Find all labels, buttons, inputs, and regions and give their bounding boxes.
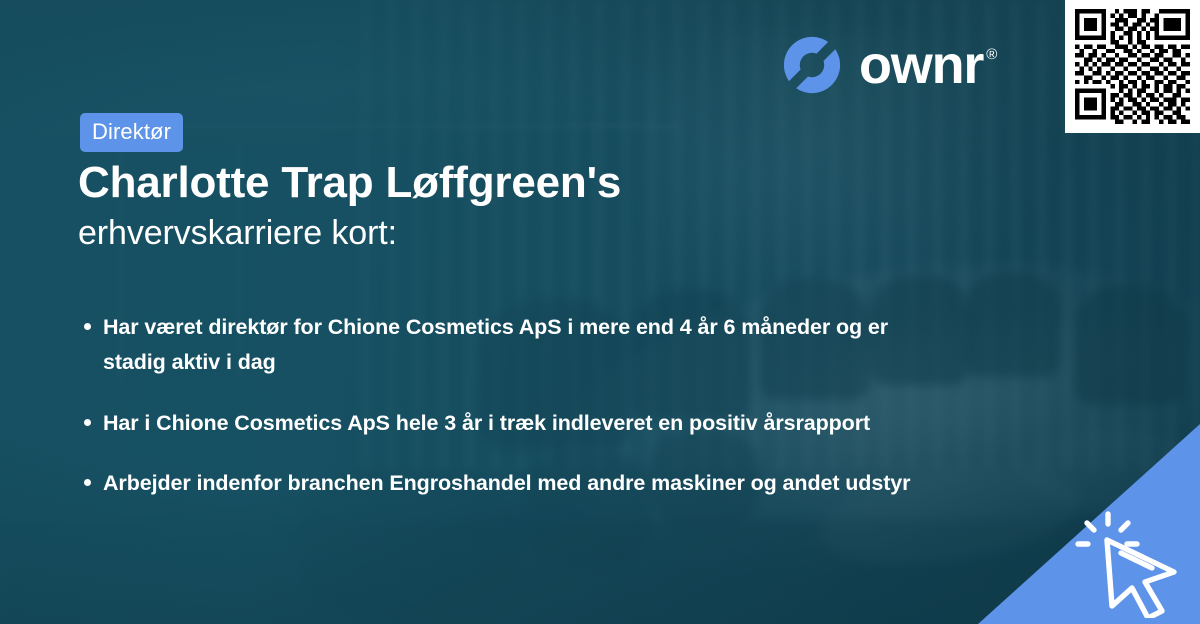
headline-line-2: erhvervskarriere kort: <box>78 213 898 254</box>
list-item-text: Har været direktør for Chione Cosmetics … <box>103 310 940 380</box>
career-card: Direktør Charlotte Trap Løffgreen's erhv… <box>0 0 1200 624</box>
role-badge: Direktør <box>80 113 183 152</box>
ownr-wordmark: ownr <box>859 38 983 92</box>
click-cursor-icon <box>1074 510 1186 618</box>
bullet-dot-icon <box>84 479 91 486</box>
ownr-logo: ownr ® <box>781 34 997 96</box>
list-item-text: Arbejder indenfor branchen Engroshandel … <box>103 466 910 501</box>
list-item-text: Har i Chione Cosmetics ApS hele 3 år i t… <box>103 406 870 441</box>
card-content: Direktør Charlotte Trap Løffgreen's erhv… <box>0 0 1200 624</box>
page-title: Charlotte Trap Løffgreen's erhvervskarri… <box>78 158 898 254</box>
qr-code-icon[interactable] <box>1075 9 1190 124</box>
headline-line-1: Charlotte Trap Løffgreen's <box>78 158 898 207</box>
list-item: Har været direktør for Chione Cosmetics … <box>80 310 940 380</box>
bullet-dot-icon <box>84 419 91 426</box>
list-item: Arbejder indenfor branchen Engroshandel … <box>80 466 940 501</box>
registered-trademark-icon: ® <box>986 47 997 62</box>
qr-code-panel[interactable] <box>1065 0 1200 133</box>
career-highlights-list: Har været direktør for Chione Cosmetics … <box>80 310 940 501</box>
ownr-circle-logo-icon <box>781 34 843 96</box>
list-item: Har i Chione Cosmetics ApS hele 3 år i t… <box>80 406 940 441</box>
bullet-dot-icon <box>84 323 91 330</box>
